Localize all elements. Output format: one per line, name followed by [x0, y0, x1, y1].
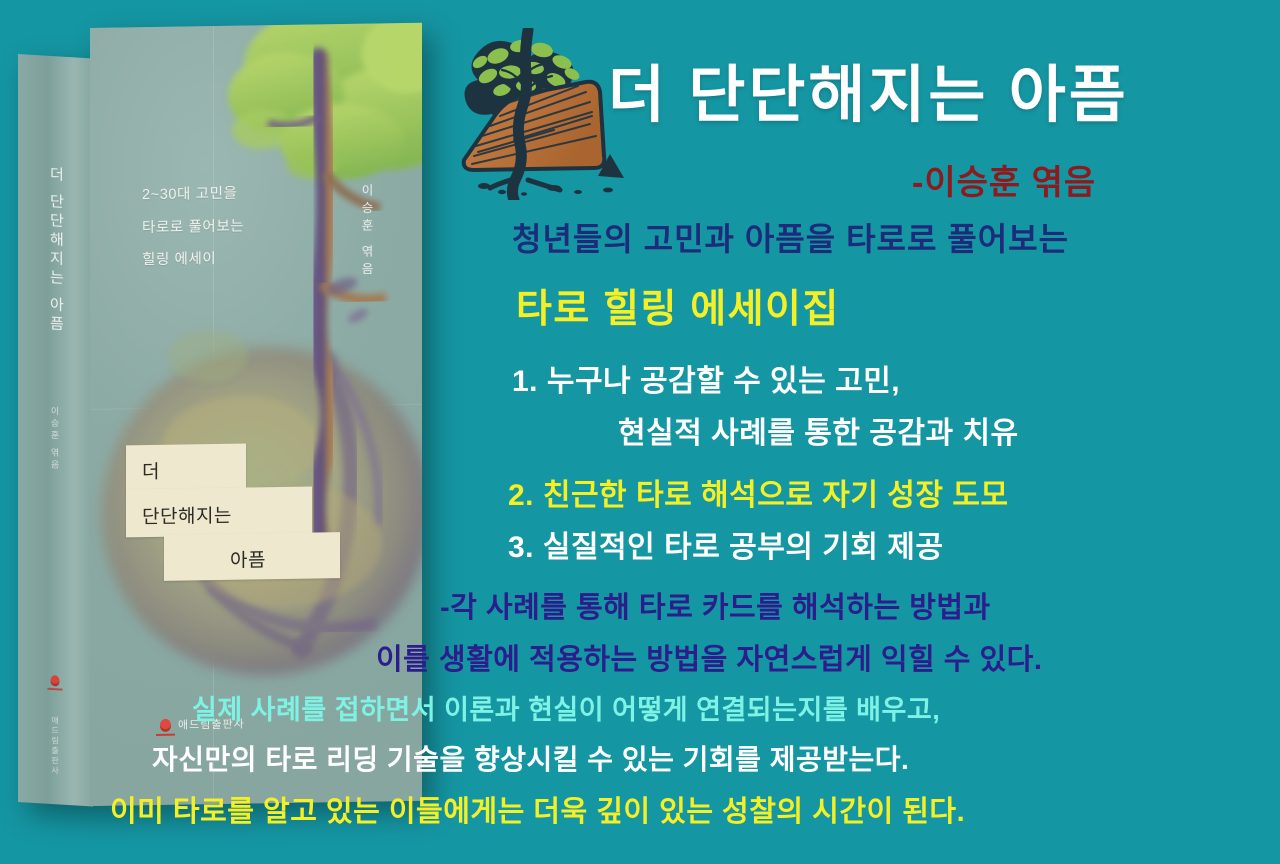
- promo-point-2: 2. 친근한 타로 해석으로 자기 성장 도모: [508, 470, 1009, 514]
- promo-body-line-2: 이를 생활에 적용하는 방법을 자연스럽게 익힐 수 있다.: [376, 636, 1042, 678]
- cover-title-line-3: 아픔: [230, 545, 266, 573]
- promo-subtitle-1: 청년들의 고민과 아픔을 타로로 풀어보는: [512, 214, 1069, 260]
- promo-poster: 더 단단해지는 아픔 이승훈 엮음 애드림출판사: [0, 0, 1280, 864]
- promo-body-line-5: 이미 타로를 알고 있는 이들에게는 더욱 깊이 있는 성찰의 시간이 된다.: [110, 788, 965, 830]
- promo-subtitle-2: 타로 힐링 에세이집: [516, 278, 840, 334]
- cover-tagline-line-2: 타로로 풀어보는: [142, 210, 244, 244]
- cover-tagline-line-3: 힐링 에세이: [142, 243, 244, 277]
- promo-point-1-line-1: 1. 누구나 공감할 수 있는 고민,: [512, 356, 900, 400]
- tree-splitting-rock-icon: [458, 28, 628, 200]
- book-spine: 더 단단해지는 아픔 이승훈 엮음 애드림출판사: [18, 54, 93, 806]
- cover-title-line-1: 더: [142, 457, 160, 484]
- promo-body-line-1: -각 사례를 통해 타로 카드를 해석하는 방법과: [440, 584, 991, 626]
- book-spine-publisher: 애드림출판사: [50, 716, 61, 777]
- cover-author: 이승훈 엮음: [357, 184, 376, 280]
- promo-point-3: 3. 실질적인 타로 공부의 기회 제공: [508, 522, 944, 566]
- book-spine-title: 더 단단해지는 아픔: [46, 166, 65, 335]
- cover-tagline: 2~30대 고민을 타로로 풀어보는 힐링 에세이: [142, 178, 244, 277]
- cover-tagline-line-1: 2~30대 고민을: [142, 178, 244, 212]
- cover-title-line-2: 단단해지는: [142, 501, 232, 529]
- promo-point-1-line-2: 현실적 사례를 통한 공감과 치유: [618, 408, 1019, 452]
- promo-headline: 더 단단해지는 아픔: [608, 44, 1129, 134]
- cover-title-block: 더 단단해지는 아픔: [126, 442, 340, 581]
- promo-body-line-3: 실제 사례를 접하면서 이론과 현실이 어떻게 연결되는지를 배우고,: [192, 688, 940, 727]
- publisher-logo-icon: [51, 675, 60, 687]
- book-spine-author: 이승훈 엮음: [49, 406, 62, 472]
- promo-byline: -이승훈 엮음: [912, 155, 1096, 204]
- publisher-logo-icon: [160, 718, 171, 731]
- promo-body-line-4: 자신만의 타로 리딩 기술을 향상시킬 수 있는 기회를 제공받는다.: [152, 738, 909, 778]
